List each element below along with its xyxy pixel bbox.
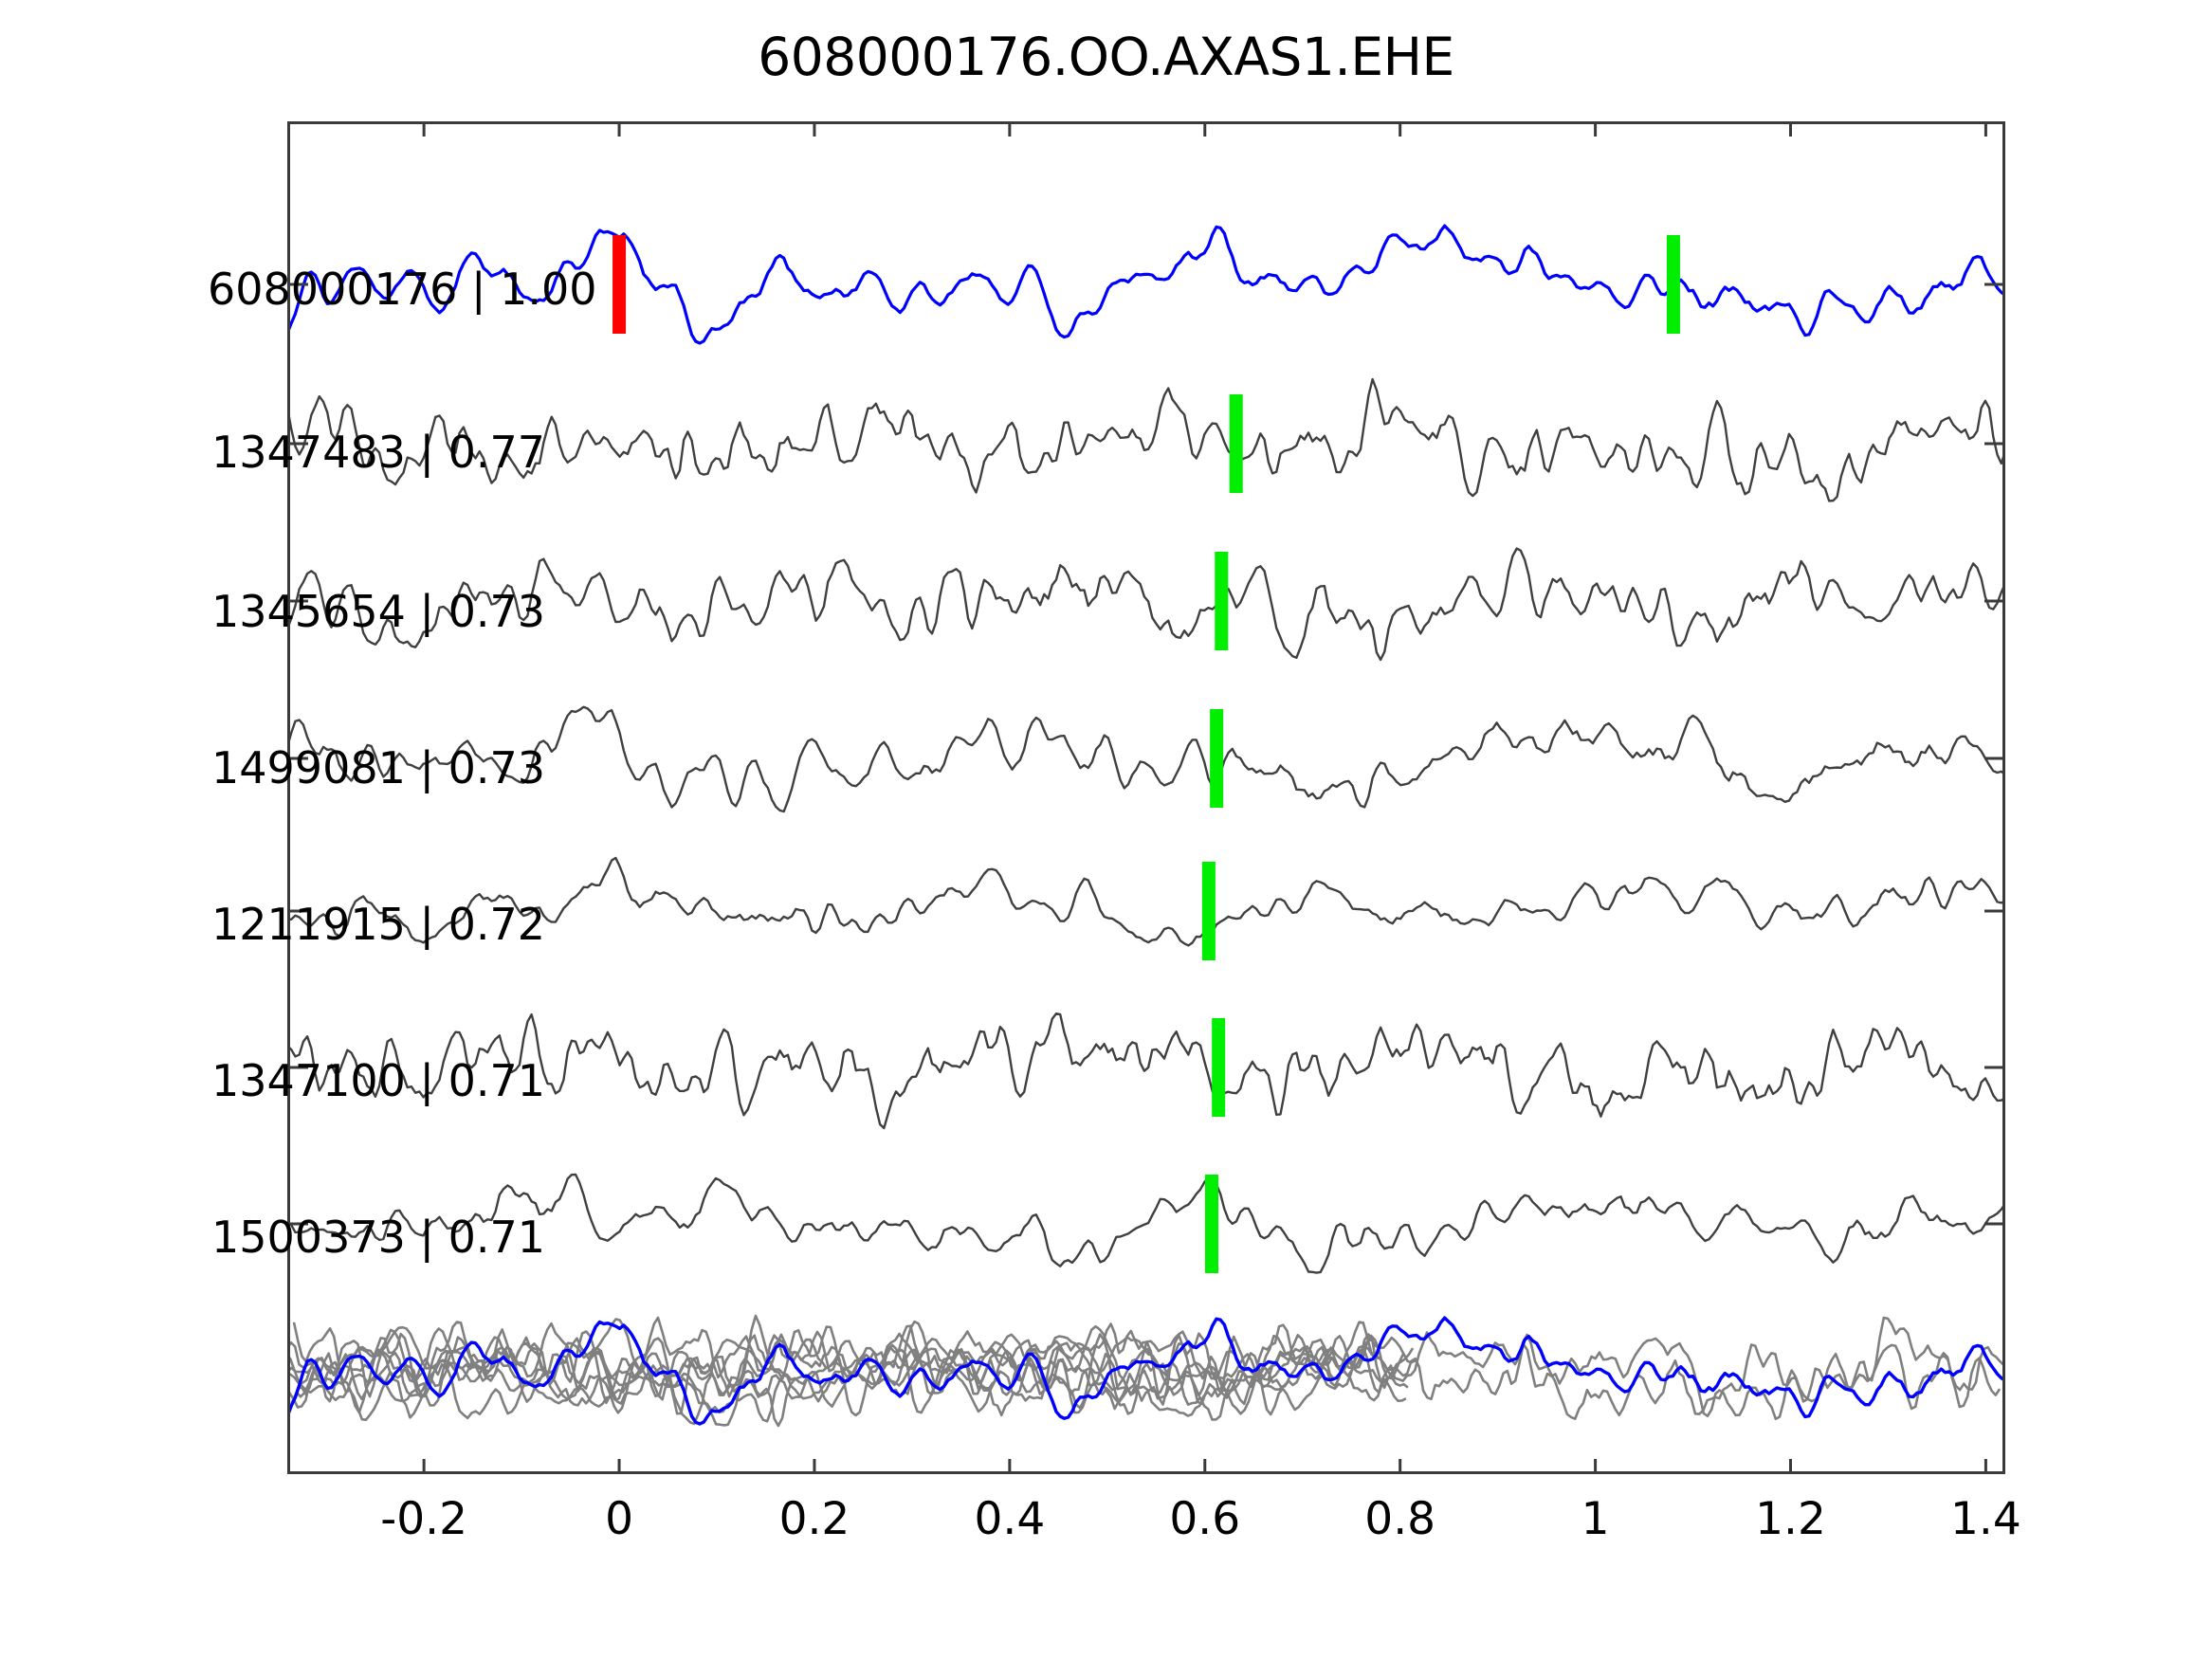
plot-area: 608000176 | 1.00 1347483 | 0.77 1345654 … [287,121,2005,1474]
pick-marker [1230,394,1243,493]
x-tick-label: 0.2 [779,1493,850,1545]
pick-marker [612,235,626,334]
chart-page: 608000176.OO.AXAS1.EHE 608000176 | 1.00 … [0,0,2212,1659]
page-title: 608000176.OO.AXAS1.EHE [0,27,2212,87]
waveform-canvas [287,121,2005,1474]
pick-marker-secondary [1667,235,1680,334]
x-tick-label: 1 [1581,1493,1610,1545]
x-tick-label: 0.4 [974,1493,1045,1545]
x-tick-label: -0.2 [380,1493,467,1545]
trace-label-5: 1347100 | 0.71 [211,1055,545,1106]
trace-label-1: 1347483 | 0.77 [211,427,545,478]
x-tick-label: 1.2 [1755,1493,1826,1545]
trace-label-0: 608000176 | 1.00 [208,264,597,315]
trace-label-6: 1500373 | 0.71 [211,1212,545,1263]
x-tick-label: 0 [605,1493,633,1545]
pick-marker [1215,552,1228,650]
overlay-panel [287,1316,2005,1426]
x-tick-label: 0.8 [1364,1493,1435,1545]
trace-label-4: 1211915 | 0.72 [211,899,545,950]
x-tick-label: 0.6 [1169,1493,1240,1545]
trace-label-2: 1345654 | 0.73 [211,586,545,637]
x-tick-marks [287,121,2005,1474]
x-axis: -0.200.20.40.60.811.21.4 [287,1493,2005,1569]
pick-marker [1202,862,1216,960]
pick-marker [1212,1018,1225,1117]
pick-marker [1205,1175,1218,1273]
trace-label-3: 1499081 | 0.73 [211,742,545,793]
pick-marker [1210,709,1223,808]
x-tick-label: 1.4 [1950,1493,2021,1545]
